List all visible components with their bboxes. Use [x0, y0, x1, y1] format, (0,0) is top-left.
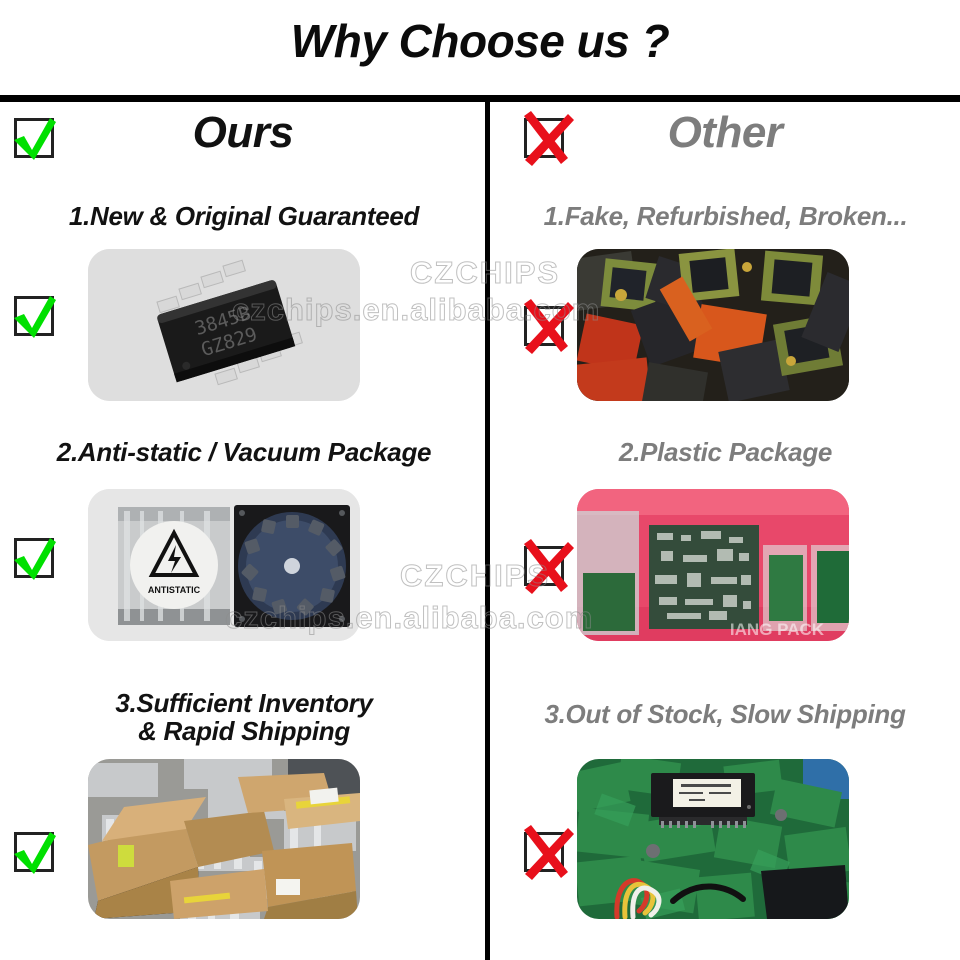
row-2-ours-green-check-icon	[8, 530, 64, 586]
row-3-ours-green-check-icon	[8, 824, 64, 880]
row-3-other-caption: 3.Out of Stock, Slow Shipping	[494, 700, 956, 728]
inventory-boxes-photo	[88, 759, 360, 919]
antistatic-vacuum-package-photo: ANTISTATIC	[88, 489, 360, 641]
page-title: Why Choose us ?	[0, 14, 960, 68]
scrap-chips-pile-photo	[577, 249, 849, 401]
row-1-other-caption: 1.Fake, Refurbished, Broken...	[498, 202, 953, 230]
row-1-other-photo	[577, 249, 849, 401]
check-glyph	[8, 530, 64, 586]
row-2-ours-photo: ANTISTATIC	[88, 489, 360, 641]
plastic-package-photo: IANG PACK	[577, 489, 849, 641]
row-1-ours-caption: 1.New & Original Guaranteed	[18, 202, 470, 230]
check-glyph	[8, 288, 64, 344]
why-choose-us-comparison: Why Choose us ? Ours Other 1.New & Origi…	[0, 0, 960, 960]
check-glyph	[8, 824, 64, 880]
row-1-other-red-cross-icon	[518, 298, 574, 354]
row-3-other-red-cross-icon	[518, 824, 574, 880]
cross-glyph	[518, 538, 574, 594]
row-2-other-caption: 2.Plastic Package	[498, 438, 953, 466]
svg-text:ANTISTATIC: ANTISTATIC	[148, 585, 201, 595]
row-3-ours-photo	[88, 759, 360, 919]
header-divider-horizontal	[0, 95, 960, 102]
column-heading-other: Other	[490, 108, 960, 158]
column-divider-vertical	[485, 102, 490, 960]
row-2-other-red-cross-icon	[518, 538, 574, 594]
row-2-ours-caption: 2.Anti-static / Vacuum Package	[8, 438, 480, 466]
cross-glyph	[518, 824, 574, 880]
svg-text:IANG PACK: IANG PACK	[730, 620, 825, 639]
row-3-other-photo	[577, 759, 849, 919]
cross-glyph	[518, 298, 574, 354]
row-3-ours-caption-line-1: 3.Sufficient Inventory	[8, 689, 480, 717]
row-1-ours-photo: 3845B GZ829	[88, 249, 360, 401]
row-3-ours-caption: 3.Sufficient Inventory & Rapid Shipping	[8, 689, 480, 745]
row-3-ours-caption-line-2: & Rapid Shipping	[8, 717, 480, 745]
new-original-chip-photo: 3845B GZ829	[88, 249, 360, 401]
row-1-ours-green-check-icon	[8, 288, 64, 344]
column-heading-ours: Ours	[0, 108, 486, 158]
row-2-other-photo: IANG PACK	[577, 489, 849, 641]
pcb-scrap-pile-photo	[577, 759, 849, 919]
